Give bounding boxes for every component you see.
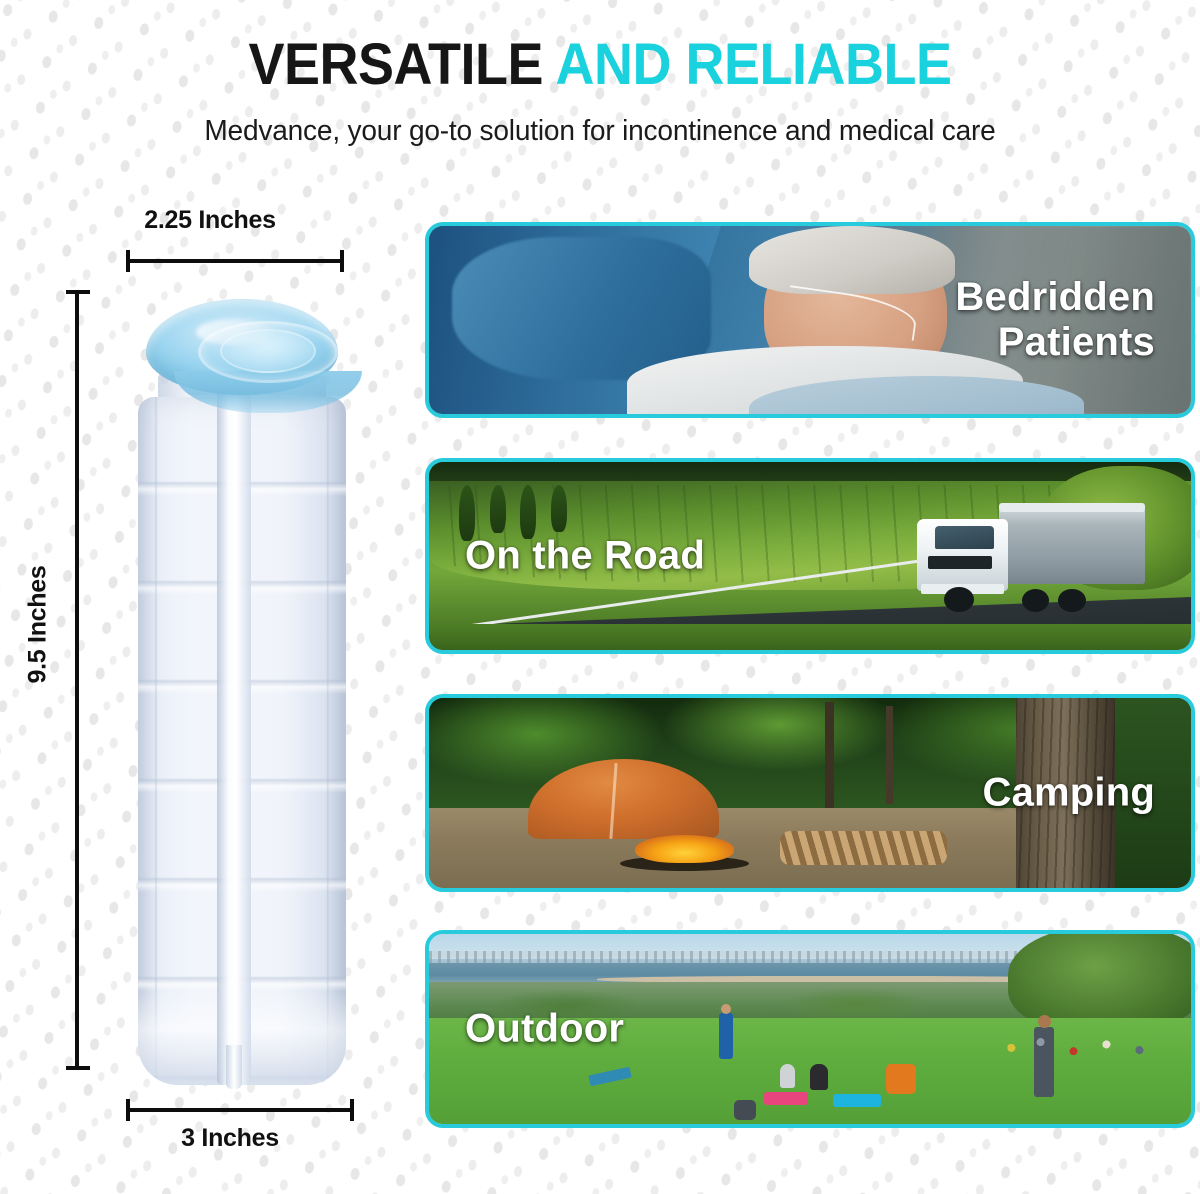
truck-trailer-roof (999, 503, 1145, 512)
person-sitting (780, 1064, 795, 1088)
dimension-line-top-width (126, 250, 344, 270)
product-image-urinal-bottle (120, 285, 360, 1085)
person-standing-blue-shirt (719, 1013, 733, 1059)
picnic-blanket-blue (833, 1094, 881, 1107)
bottle-cap (146, 299, 338, 395)
dimension-line-height (66, 290, 88, 1070)
page-subtitle: Medvance, your go-to solution for incont… (9, 94, 1191, 148)
cypress-tree (551, 485, 567, 532)
truck-grille (928, 556, 992, 569)
truck-windshield (935, 526, 994, 549)
truck-wheel (1022, 589, 1049, 612)
park-crowd (993, 1025, 1176, 1082)
campfire-flames (635, 835, 734, 864)
tree-trunk (825, 702, 834, 808)
tree-trunk (886, 706, 893, 805)
camp-chair-orange (886, 1064, 916, 1094)
header: VERSATILE AND RELIABLE Medvance, your go… (0, 0, 1200, 190)
picnic-blanket-pink (764, 1092, 808, 1105)
cypress-tree (490, 485, 506, 534)
person-sitting (810, 1064, 828, 1090)
firewood-logs (780, 831, 948, 865)
dimension-endcap-right (340, 250, 344, 272)
dimension-bar (126, 1108, 354, 1112)
bottle-tube-tip (226, 1045, 242, 1089)
bottle-cap-highlight (196, 319, 274, 345)
product-dimension-diagram: 2.25 Inches 9.5 Inches (0, 190, 420, 1194)
use-case-panel-outdoor[interactable]: Outdoor (425, 930, 1195, 1128)
use-case-panel-bedridden-patients[interactable]: Bedridden Patients (425, 222, 1195, 418)
page-title-accent: AND RELIABLE (556, 32, 952, 97)
dimension-endcap-right (350, 1099, 354, 1121)
page-title-primary: VERSATILE (248, 32, 543, 97)
use-case-label: Camping (982, 771, 1155, 816)
dimension-bar (75, 290, 79, 1070)
use-case-panel-camping[interactable]: Camping (425, 694, 1195, 892)
dimension-label-height: 9.5 Inches (24, 525, 53, 725)
page-title: VERSATILE AND RELIABLE (42, 0, 1158, 94)
bottle-center-tube (217, 373, 251, 1085)
dimension-label-top-width: 2.25 Inches (0, 206, 420, 235)
use-case-panel-list: Bedridden Patients (425, 222, 1200, 1172)
use-case-label: Outdoor (465, 1007, 624, 1052)
dimension-label-bottom-width: 3 Inches (0, 1124, 460, 1153)
patient-hair (749, 226, 955, 294)
use-case-panel-on-the-road[interactable]: On the Road (425, 458, 1195, 654)
use-case-label: Bedridden Patients (955, 275, 1155, 365)
truck-trailer (999, 508, 1145, 585)
truck-wheel (1058, 589, 1085, 612)
truck-wheel (944, 587, 974, 613)
dimension-line-bottom-width (126, 1099, 354, 1119)
dimension-bar (126, 259, 344, 263)
semi-truck (917, 496, 1146, 613)
road-grass-verge (429, 624, 1191, 650)
backpack (734, 1100, 756, 1120)
dimension-endcap-bottom (66, 1066, 90, 1070)
use-case-label: On the Road (465, 534, 705, 579)
